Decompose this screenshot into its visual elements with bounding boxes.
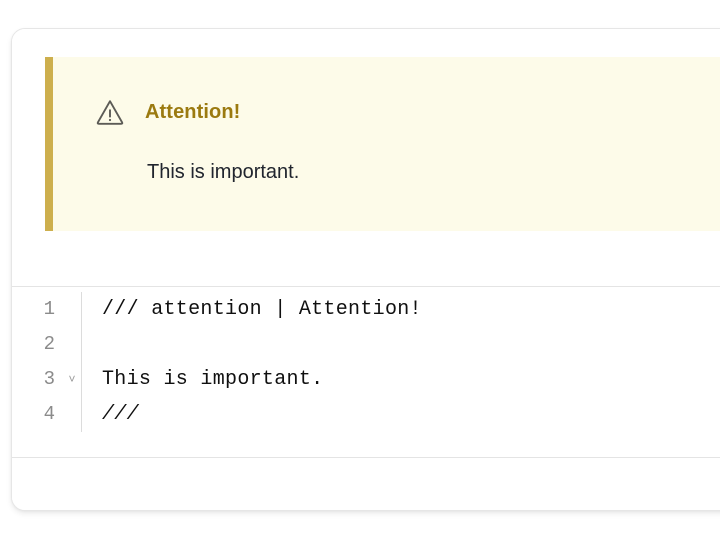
line-gutter: 2: [12, 327, 81, 362]
gutter-divider: [81, 327, 82, 362]
line-gutter: 1: [12, 292, 81, 327]
admonition-body: Attention! This is important.: [53, 57, 720, 231]
line-number: 1: [44, 292, 55, 327]
code-line-text[interactable]: ///: [82, 397, 720, 432]
code-editor-pane[interactable]: 1 /// attention | Attention! 2 3 ˅: [12, 287, 720, 458]
admonition-accent-bar: [45, 57, 53, 231]
code-line-list: 1 /// attention | Attention! 2 3 ˅: [12, 292, 720, 432]
code-line-row[interactable]: 1 /// attention | Attention!: [12, 292, 720, 327]
code-line-row[interactable]: 3 ˅ This is important.: [12, 362, 720, 397]
code-line-row[interactable]: 4 ///: [12, 397, 720, 432]
line-number: 3: [44, 362, 55, 397]
code-line-text[interactable]: This is important.: [82, 362, 720, 397]
line-number: 2: [44, 327, 55, 362]
preview-pane: Attention! This is important.: [12, 29, 720, 287]
code-line-text[interactable]: /// attention | Attention!: [82, 292, 720, 327]
line-gutter: 3 ˅: [12, 362, 81, 397]
admonition-attention: Attention! This is important.: [45, 57, 720, 231]
line-gutter: 4: [12, 397, 81, 432]
page-root: Attention! This is important. 1 /// atte…: [0, 0, 720, 544]
admonition-body-text: This is important.: [147, 161, 299, 184]
code-line-row[interactable]: 2: [12, 327, 720, 362]
admonition-title: Attention!: [145, 101, 240, 124]
chevron-down-icon[interactable]: ˅: [64, 362, 80, 397]
warning-triangle-icon: [95, 97, 125, 127]
admonition-title-row: Attention!: [95, 97, 240, 127]
line-number: 4: [44, 397, 55, 432]
document-card: Attention! This is important. 1 /// atte…: [11, 28, 720, 511]
card-footer: [12, 458, 720, 510]
